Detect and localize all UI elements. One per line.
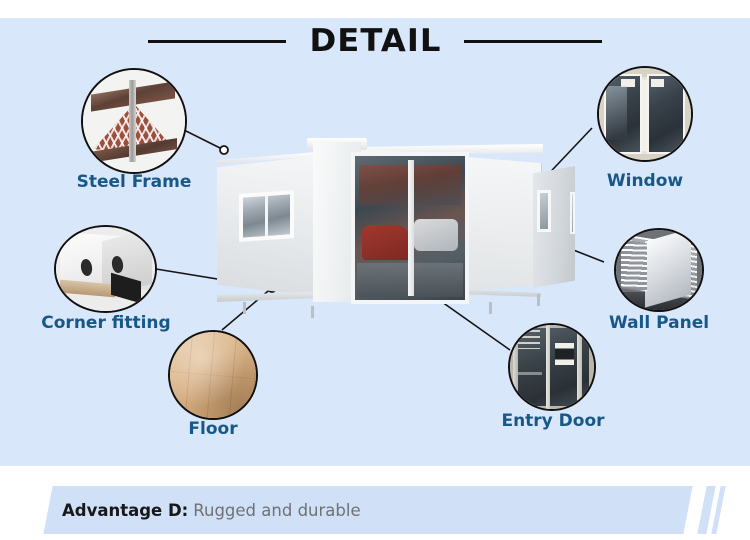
steel-frame-icon[interactable]: [81, 68, 187, 174]
door-reflection-white-car: [414, 219, 458, 251]
house-leg: [311, 306, 314, 318]
callout-label-steel-frame: Steel Frame: [54, 172, 214, 192]
house-leg: [537, 294, 540, 306]
title-rule-right: [464, 40, 602, 43]
banner-text-row: Advantage D: Rugged and durable: [62, 486, 682, 534]
callout-label-window: Window: [575, 171, 715, 191]
advantage-banner: Advantage D: Rugged and durable: [0, 486, 750, 540]
house-sliding-glass-door: [351, 152, 469, 304]
banner-strong-label: Advantage D:: [62, 501, 188, 520]
callout-label-corner-fitting: Corner fitting: [25, 313, 187, 333]
house-leg: [243, 302, 246, 314]
door-mullion: [408, 160, 414, 296]
page-title-row: DETAIL: [0, 18, 750, 64]
banner-text: Rugged and durable: [193, 501, 360, 520]
house-end-slit-window: [570, 192, 575, 234]
wall-panel-icon[interactable]: [614, 228, 704, 312]
title-rule-left: [148, 40, 286, 43]
floor-icon[interactable]: [168, 330, 258, 420]
door-reflection-red-car: [362, 225, 410, 260]
callout-label-entry-door: Entry Door: [482, 411, 624, 431]
callout-label-floor: Floor: [143, 419, 283, 439]
house-left-window: [239, 190, 294, 242]
entry-door-icon[interactable]: [508, 323, 596, 411]
window-icon[interactable]: [597, 66, 693, 162]
house-end-window: [537, 190, 551, 232]
container-house-image: [203, 134, 568, 329]
page-title: DETAIL: [309, 23, 441, 59]
callout-label-wall-panel: Wall Panel: [589, 313, 729, 333]
house-sliding-door-group: [313, 142, 475, 310]
corner-fitting-icon[interactable]: [54, 225, 157, 313]
house-leg: [489, 302, 492, 314]
detail-infographic-page: DETAIL: [0, 0, 750, 540]
